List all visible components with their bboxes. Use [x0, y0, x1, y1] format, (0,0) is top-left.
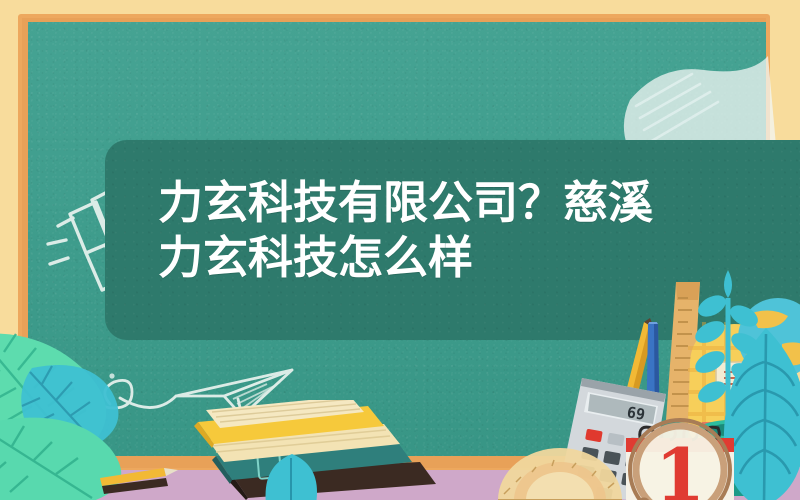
small-leaf: [258, 448, 328, 500]
poster-canvas: 力玄科技有限公司？慈溪力玄科技怎么样: [0, 0, 800, 500]
magnifier: 1: [618, 418, 748, 500]
magnified-number: 1: [655, 432, 705, 500]
desk-pencils: [92, 460, 182, 500]
page-title: 力玄科技有限公司？慈溪力玄科技怎么样: [158, 176, 678, 286]
protractor: [494, 444, 624, 500]
